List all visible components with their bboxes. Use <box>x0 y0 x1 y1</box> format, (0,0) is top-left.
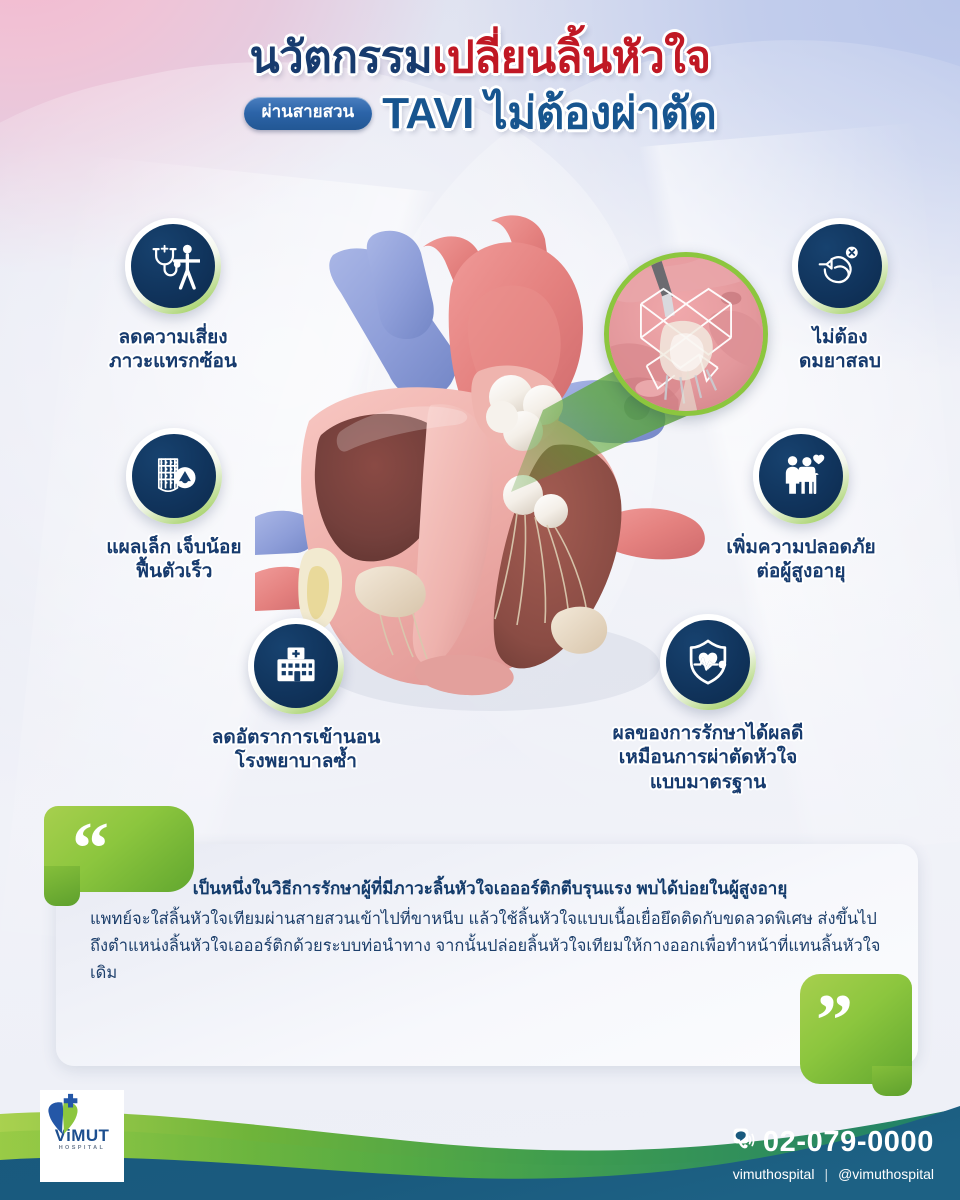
badge-ring <box>125 218 221 314</box>
benefit-label: เพิ่มความปลอดภัย ต่อผู้สูงอายุ <box>660 536 942 585</box>
social-row: vimuthospital | @vimuthospital <box>733 1166 934 1182</box>
badge-ring <box>753 428 849 524</box>
benefit-label-line-2: โรงพยาบาลซ้ำ <box>152 750 440 774</box>
badge-inner <box>132 434 216 518</box>
facebook-handle: vimuthospital <box>733 1166 815 1182</box>
benefit-label-line-1: ลดความเสี่ยง <box>48 326 298 350</box>
subtitle-badge: ผ่านสายสวน <box>244 97 373 130</box>
benefit-label-line-1: แผลเล็ก เจ็บน้อย <box>38 536 310 560</box>
poster-footer: ViMUT HOSPITAL 02-079-0000 vimuthosp <box>0 1080 960 1200</box>
benefit-label-line-2: เหมือนการผ่าตัดหัวใจ <box>548 746 868 770</box>
benefit-label-line-1: ลดอัตราการเข้านอน <box>152 726 440 750</box>
social-separator: | <box>822 1166 830 1182</box>
badge-ring <box>792 218 888 314</box>
quote-body-text: แพทย์จะใส่ลิ้นหัวใจเทียมผ่านสายสวนเข้าไป… <box>90 906 890 986</box>
quote-block: “ เป็นหนึ่งในวิธีการรักษาผู้ที่มีภาวะลิ้… <box>44 806 918 1066</box>
benefit-label-line-2: ฟื้นตัวเร็ว <box>38 560 310 584</box>
benefit-no-general-anesthesia[interactable]: ไม่ต้อง ดมยาสลบ <box>740 218 940 375</box>
quote-open-glyph: “ <box>72 812 112 886</box>
quote-close-glyph: ” <box>816 990 856 1053</box>
title-part-valve-replacement: เปลี่ยนลิ้นหัวใจ <box>432 33 710 82</box>
quote-text: เป็นหนึ่งในวิธีการรักษาผู้ที่มีภาวะลิ้นห… <box>90 876 890 987</box>
title-line-1: นวัตกรรมเปลี่ยนลิ้นหัวใจ <box>0 34 960 82</box>
line-handle: @vimuthospital <box>838 1166 934 1182</box>
benefit-label: ผลของการรักษาได้ผลดี เหมือนการผ่าตัดหัวใ… <box>548 722 868 795</box>
title-part-innovation: นวัตกรรม <box>249 33 432 82</box>
badge-ring <box>126 428 222 524</box>
footer-contact: 02-079-0000 vimuthospital | @vimuth <box>733 1128 934 1182</box>
benefit-reduce-readmission-rate[interactable]: ลดอัตราการเข้านอน โรงพยาบาลซ้ำ <box>152 618 440 775</box>
benefit-label-line-2: ต่อผู้สูงอายุ <box>660 560 942 584</box>
line-icon <box>733 1128 749 1144</box>
quote-lead-line: เป็นหนึ่งในวิธีการรักษาผู้ที่มีภาวะลิ้นห… <box>90 876 890 902</box>
badge-inner <box>254 624 338 708</box>
benefit-label: ลดความเสี่ยง ภาวะแทรกซ้อน <box>48 326 298 375</box>
benefit-label: ไม่ต้อง ดมยาสลบ <box>740 326 940 375</box>
line-account[interactable]: @vimuthospital <box>838 1166 934 1182</box>
logo-subtext: HOSPITAL <box>59 1146 106 1152</box>
benefit-label-line-1: ผลของการรักษาได้ผลดี <box>548 722 868 746</box>
benefit-label-line-1: ไม่ต้อง <box>740 326 940 350</box>
badge-inner <box>131 224 215 308</box>
badge-inner <box>759 434 843 518</box>
hospital-building-icon <box>269 639 323 693</box>
stent-valve-icon <box>147 449 201 503</box>
stethoscope-person-icon <box>146 239 200 293</box>
benefit-safer-for-elderly[interactable]: เพิ่มความปลอดภัย ต่อผู้สูงอายุ <box>660 428 942 585</box>
benefit-label: แผลเล็ก เจ็บน้อย ฟื้นตัวเร็ว <box>38 536 310 585</box>
shield-heart-ecg-icon <box>681 635 735 689</box>
infographic-poster: นวัตกรรมเปลี่ยนลิ้นหัวใจ ผ่านสายสวน TAVI… <box>0 0 960 1200</box>
phone-number: 02-079-0000 <box>763 1128 934 1157</box>
benefit-label-line-1: เพิ่มความปลอดภัย <box>660 536 942 560</box>
badge-inner <box>666 620 750 704</box>
title-tavi-no-surgery: TAVI ไม่ต้องผ่าตัด <box>382 90 716 138</box>
benefit-label: ลดอัตราการเข้านอน โรงพยาบาลซ้ำ <box>152 726 440 775</box>
phone-row[interactable]: 02-079-0000 <box>733 1128 934 1157</box>
elderly-couple-heart-icon <box>774 449 828 503</box>
badge-ring <box>660 614 756 710</box>
anesthesia-mask-no-icon <box>813 239 867 293</box>
vimut-logo: ViMUT HOSPITAL <box>40 1090 124 1182</box>
benefit-label-line-3: แบบมาตรฐาน <box>548 771 868 795</box>
vimut-leaf-cross-logo-icon <box>40 1090 86 1138</box>
title-line-2: ผ่านสายสวน TAVI ไม่ต้องผ่าตัด <box>0 90 960 138</box>
benefit-reduce-complication-risk[interactable]: ลดความเสี่ยง ภาวะแทรกซ้อน <box>48 218 298 375</box>
quote-close-mark: ” <box>800 974 912 1084</box>
benefit-outcome-equal-open-surgery[interactable]: ผลของการรักษาได้ผลดี เหมือนการผ่าตัดหัวใ… <box>548 614 868 795</box>
badge-ring <box>248 618 344 714</box>
poster-header: นวัตกรรมเปลี่ยนลิ้นหัวใจ ผ่านสายสวน TAVI… <box>0 34 960 137</box>
facebook-account[interactable]: vimuthospital <box>733 1166 815 1182</box>
benefit-small-wound-fast-recovery[interactable]: แผลเล็ก เจ็บน้อย ฟื้นตัวเร็ว <box>38 428 310 585</box>
benefit-label-line-2: ภาวะแทรกซ้อน <box>48 350 298 374</box>
badge-inner <box>798 224 882 308</box>
benefit-label-line-2: ดมยาสลบ <box>740 350 940 374</box>
